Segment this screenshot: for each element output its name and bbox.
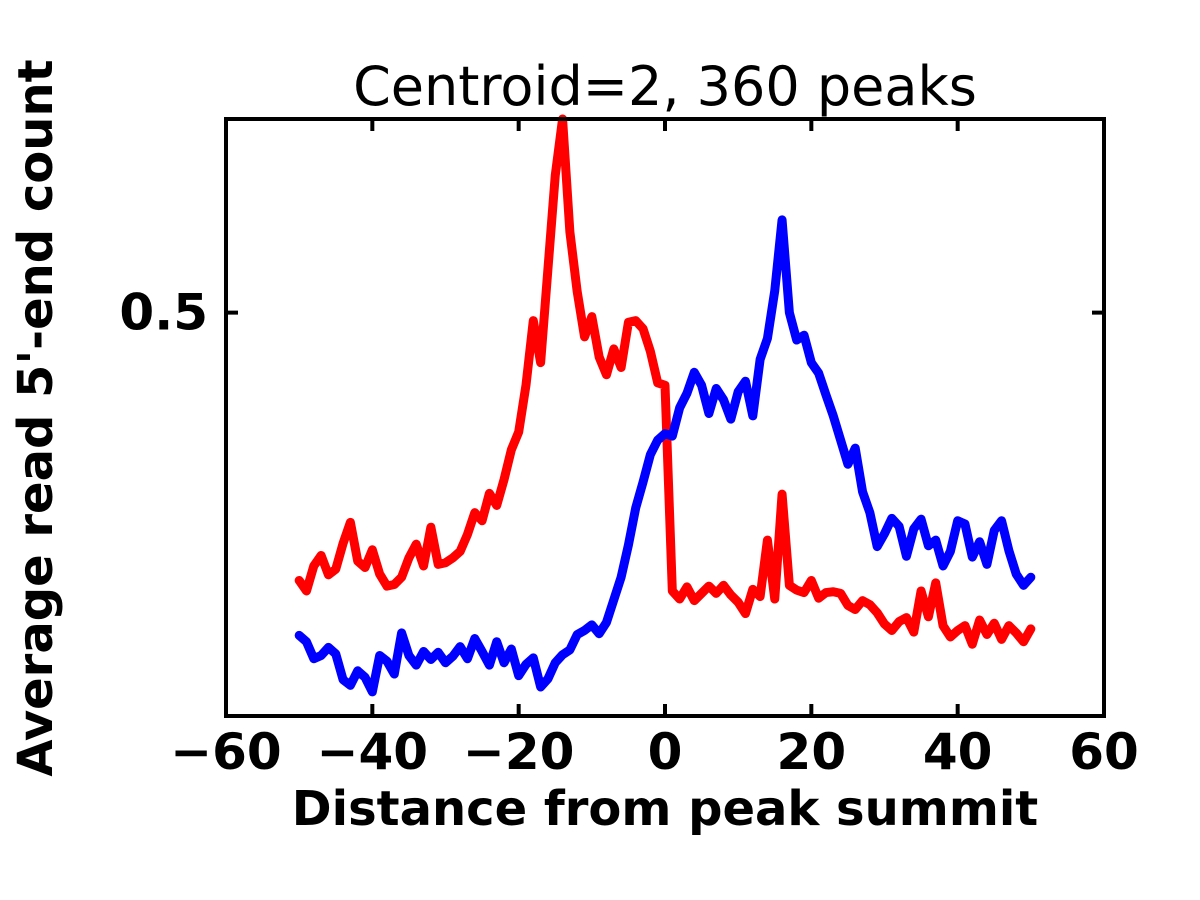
x-tick-label: −60 bbox=[170, 723, 281, 781]
x-tick-label: 40 bbox=[923, 723, 993, 781]
chart-figure: Centroid=2, 360 peaks −60−40−200204060 0… bbox=[0, 0, 1200, 900]
x-tick-label: −40 bbox=[317, 723, 428, 781]
x-tick-label: 60 bbox=[1069, 723, 1139, 781]
y-tick-label: 0.5 bbox=[119, 284, 208, 342]
x-tick-label: 20 bbox=[777, 723, 847, 781]
chart-title: Centroid=2, 360 peaks bbox=[353, 55, 977, 118]
x-tick-label: −20 bbox=[463, 723, 574, 781]
x-tick-label: 0 bbox=[648, 723, 683, 781]
x-axis-label: Distance from peak summit bbox=[292, 781, 1038, 837]
line-chart-canvas: Centroid=2, 360 peaks −60−40−200204060 0… bbox=[0, 0, 1200, 900]
y-axis-label: Average read 5'-end count bbox=[8, 59, 64, 776]
